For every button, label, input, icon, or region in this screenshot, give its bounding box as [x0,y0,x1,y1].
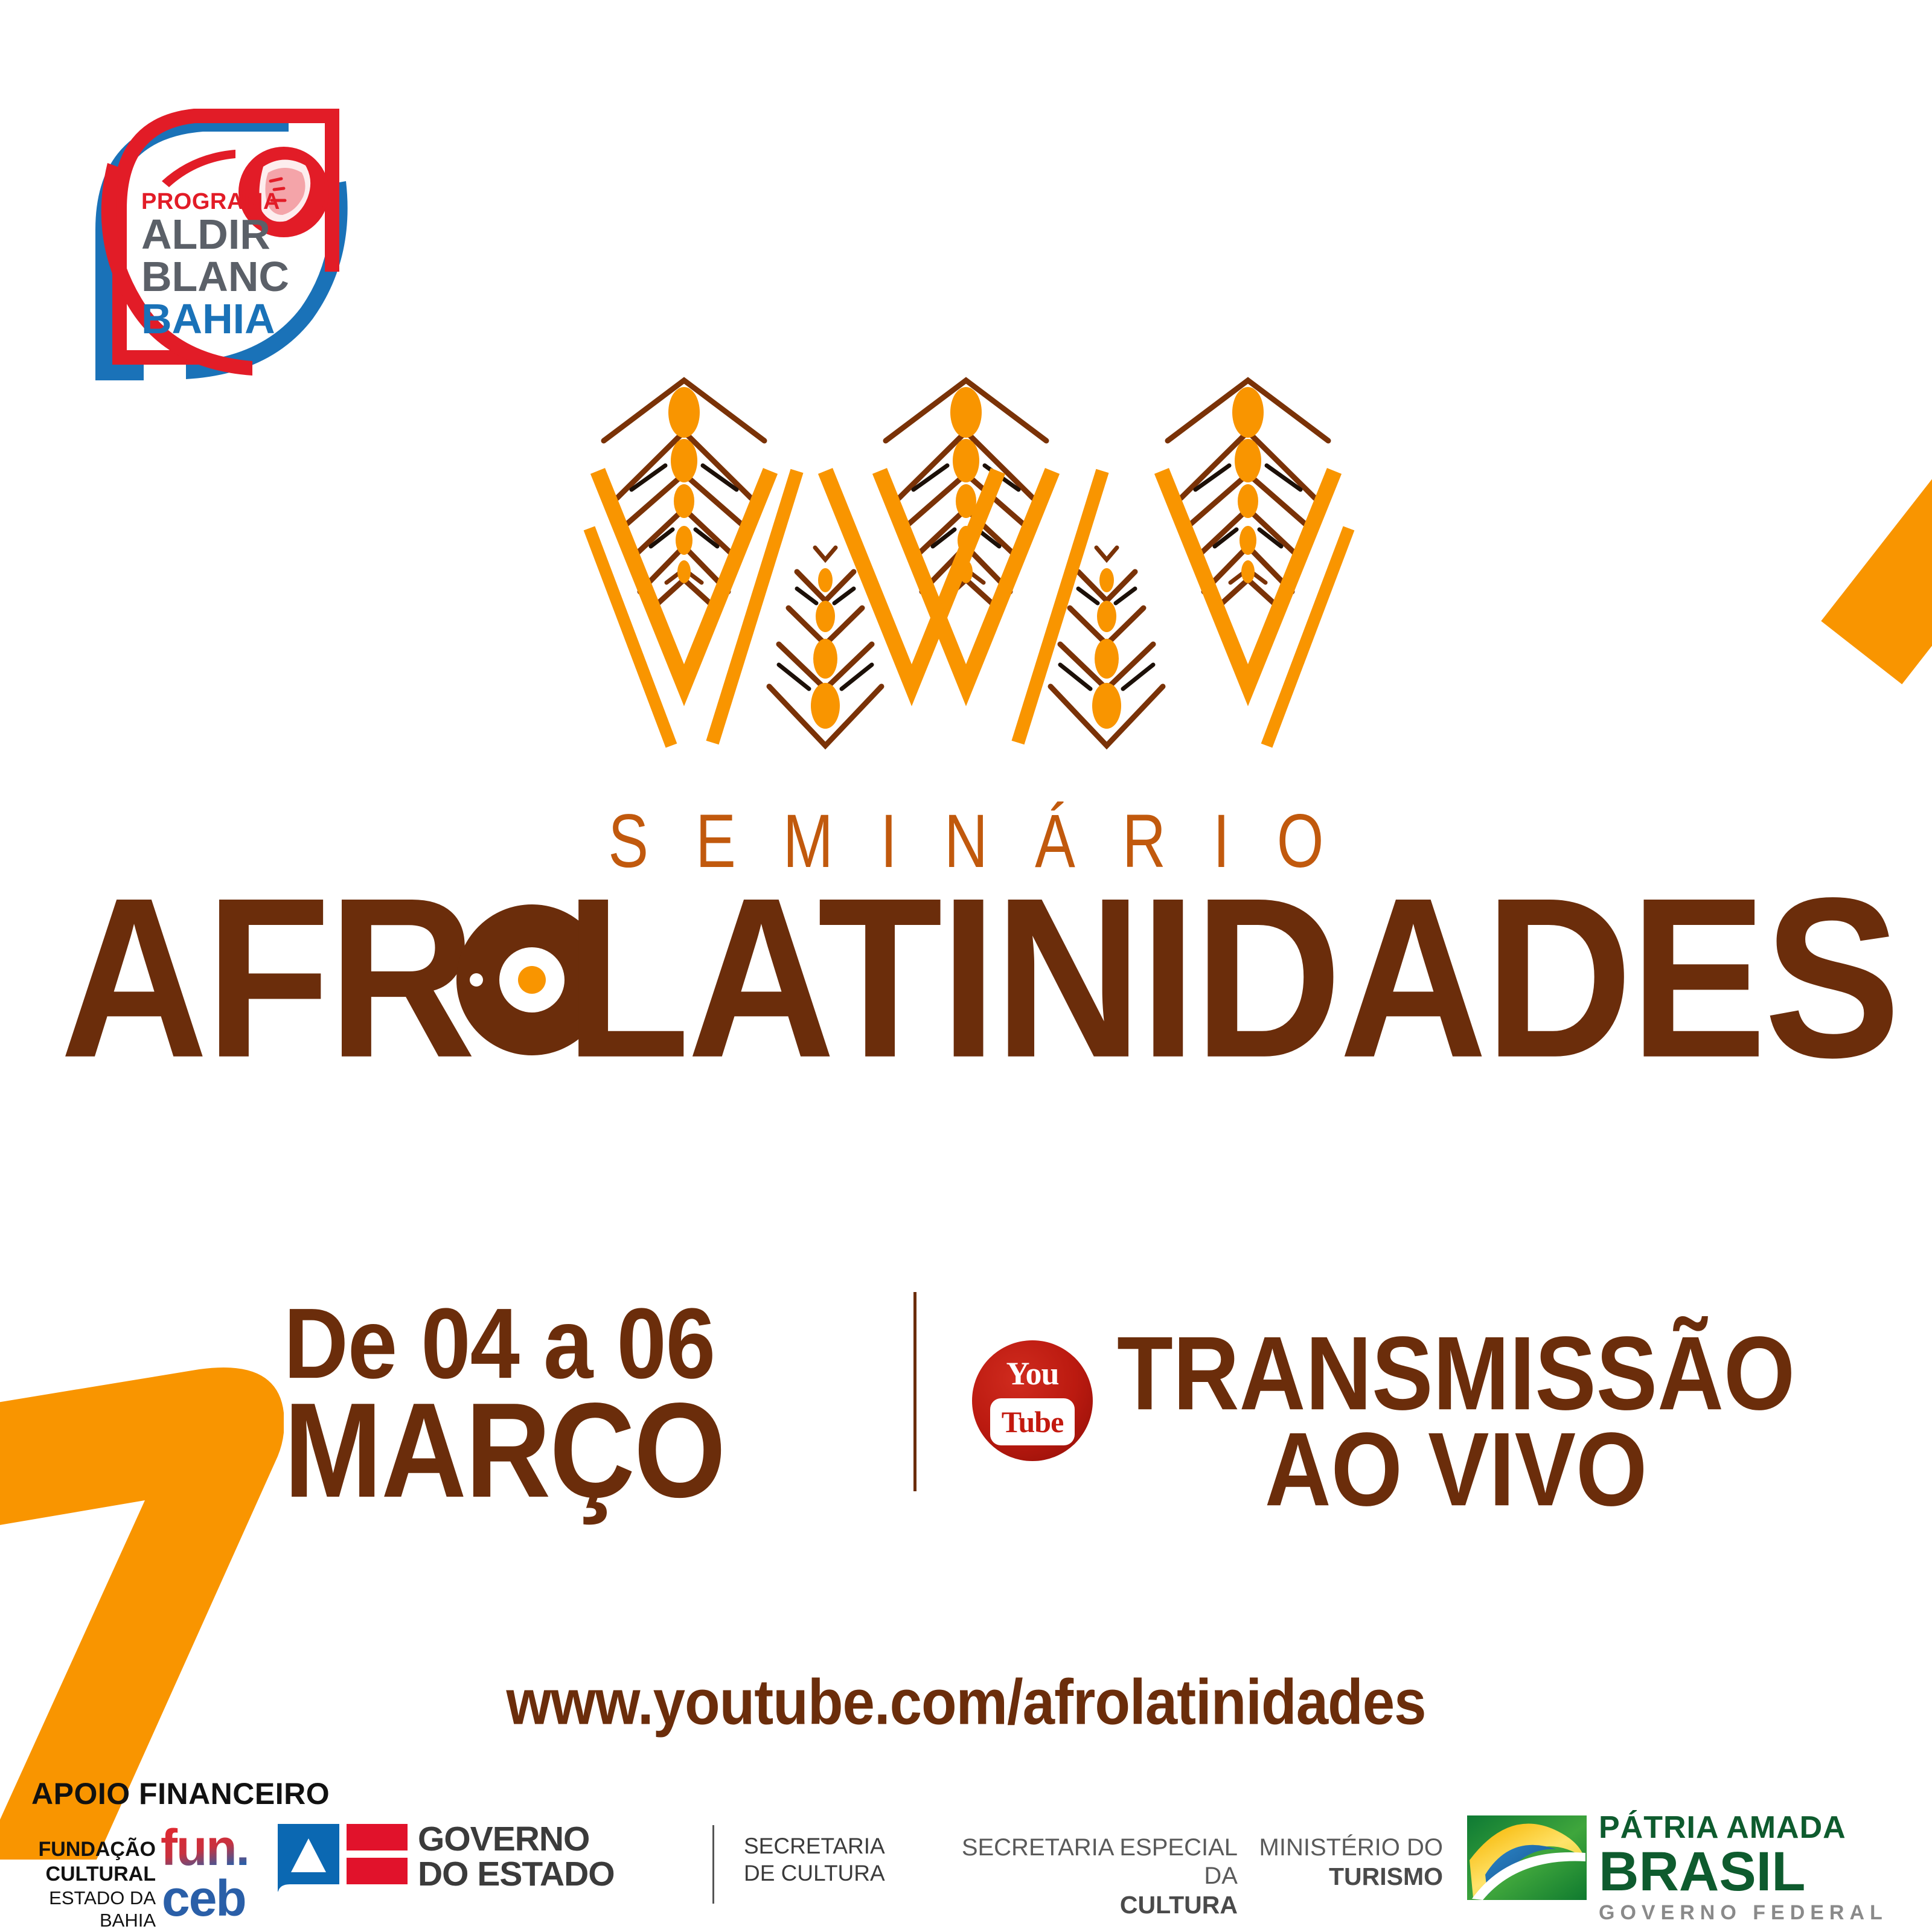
funceb-wordmark: FUNDAÇÃO CULTURAL ESTADO DA BAHIA [35,1837,156,1931]
youtube-tube-box: Tube [990,1398,1075,1445]
aldir-blanc-bahia-logo: PROGRAMA ALDIR BLANC BAHIA [71,91,373,392]
youtube-icon[interactable]: You Tube [972,1340,1093,1461]
governo-do-estado-logo: GOVERNO DO ESTADO [278,1823,724,1922]
funceb-line-2: CULTURAL [35,1862,156,1887]
title-part-after-o: LATINIDADES [565,863,1898,1092]
ministerio-line-1: MINISTÉRIO DO [1250,1834,1443,1862]
youtube-tube-text: Tube [990,1404,1075,1439]
governo-wordmark: GOVERNO DO ESTADO [418,1822,615,1892]
governo-line-1: GOVERNO [418,1822,615,1857]
governo-federal-text: GOVERNO FEDERAL [1599,1902,1888,1923]
funceb-logo: FUNDAÇÃO CULTURAL ESTADO DA BAHIA fun. c [35,1820,258,1923]
bahia-flag-icon [278,1824,408,1892]
ministerio-do-turismo: MINISTÉRIO DO TURISMO [1250,1834,1443,1892]
svg-text:ceb: ceb [162,1870,246,1922]
afro-pattern-ornament [513,347,1419,776]
logo-aldir-label: ALDIR [141,211,270,258]
ministerio-line-2: TURISMO [1250,1862,1443,1891]
logo-bahia-label: BAHIA [141,295,275,342]
svg-text:fun.: fun. [161,1824,249,1876]
funceb-line-1: FUNDAÇÃO [35,1837,156,1862]
footer-divider-1 [712,1825,714,1904]
funceb-line-3: ESTADO DA [35,1887,156,1909]
event-info-row: De 04 a 06 MARÇO You Tube TRANSMISSÃO AO… [284,1298,1733,1515]
seccult-line-2: DE CULTURA [744,1860,885,1887]
event-title: AFRLATINIDADES [0,863,1932,1057]
secretaria-especial-cultura: SECRETARIA ESPECIAL DA CULTURA [924,1834,1238,1920]
secretaria-de-cultura-label: SECRETARIA DE CULTURA [744,1832,885,1887]
poster-canvas: PROGRAMA ALDIR BLANC BAHIA [0,0,1932,1932]
governo-line-2: DO ESTADO [418,1857,615,1892]
title-part-before-o: AFR [60,863,473,1092]
funceb-mark-icon: fun. ceb [161,1824,257,1922]
secesp-line-1: SECRETARIA ESPECIAL DA [924,1834,1238,1890]
funceb-line-4: BAHIA [35,1909,156,1931]
decorative-diagonal-stripe [1821,0,1932,684]
broadcast-line-1: TRANSMISSÃO [1117,1325,1795,1423]
brasil-flag-icon [1467,1815,1587,1900]
vertical-divider [913,1292,916,1491]
brasil-wordmark: PÁTRIA AMADA BRASIL GOVERNO FEDERAL [1599,1812,1888,1923]
seccult-line-1: SECRETARIA [744,1832,885,1860]
brasil-text: BRASIL [1599,1844,1888,1899]
governo-federal-logo: PÁTRIA AMADA BRASIL GOVERNO FEDERAL [1467,1814,1902,1929]
event-month: MARÇO [284,1389,724,1513]
patria-amada-text: PÁTRIA AMADA [1599,1812,1888,1843]
secesp-line-2: CULTURA [924,1890,1238,1919]
youtube-channel-url[interactable]: www.youtube.com/afrolatinidades [0,1666,1932,1739]
logo-blanc-label: BLANC [141,253,289,300]
event-date-block: De 04 a 06 MARÇO [284,1298,724,1497]
footer-logo-bar: FUNDAÇÃO CULTURAL ESTADO DA BAHIA fun. c [0,1814,1932,1932]
broadcast-block: TRANSMISSÃO AO VIVO [1117,1325,1795,1507]
youtube-you-text: You [972,1355,1093,1392]
apoio-financeiro-label: APOIO FINANCEIRO [31,1776,330,1811]
broadcast-line-2: AO VIVO [1117,1421,1795,1519]
